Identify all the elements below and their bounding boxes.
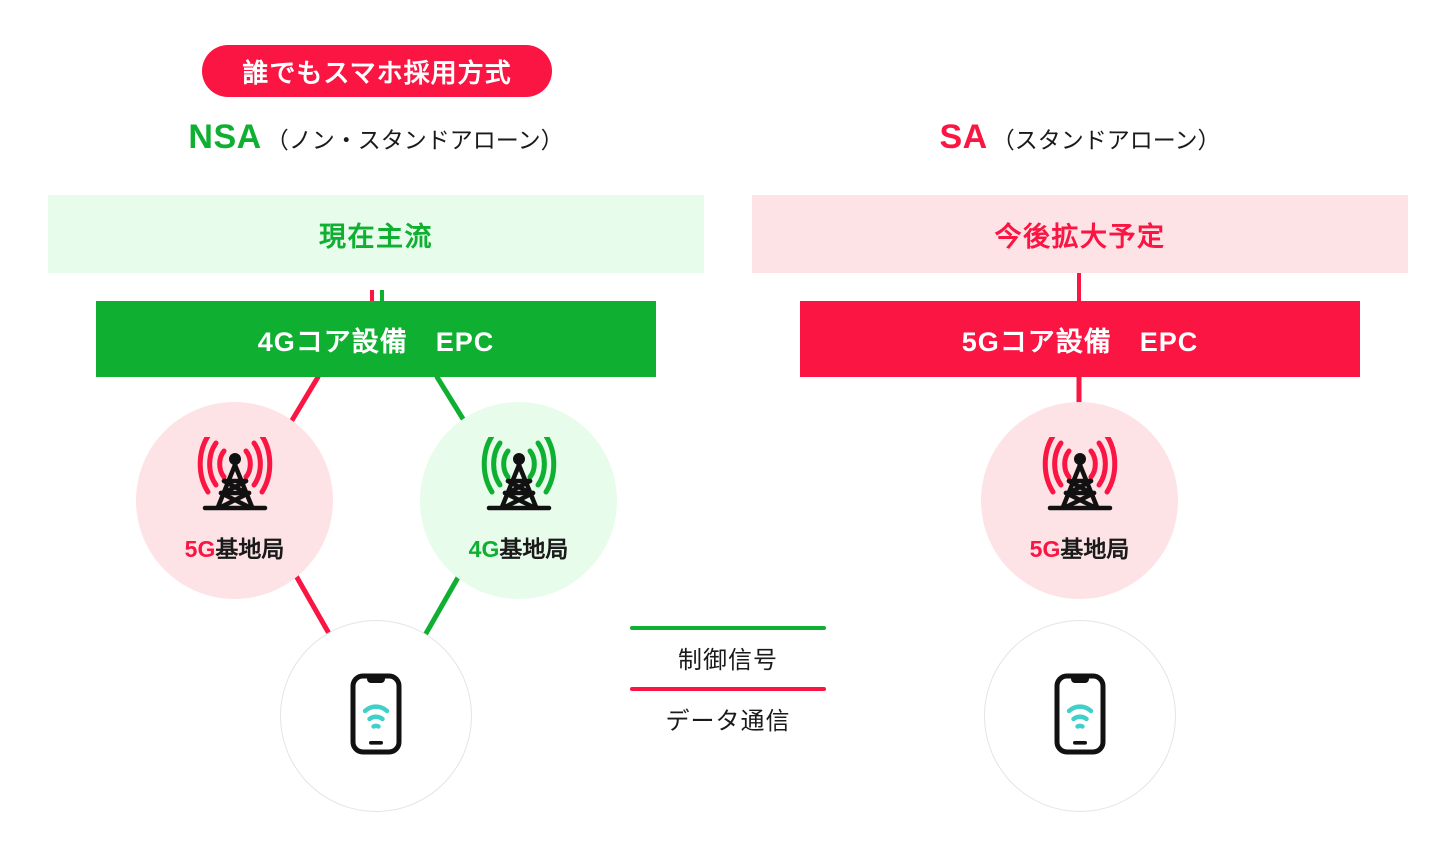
- smartphone-icon: [350, 673, 402, 760]
- cell-tower-icon: [1036, 437, 1124, 524]
- node-generation: 5G: [185, 536, 216, 562]
- legend: 制御信号 データ通信: [630, 626, 826, 748]
- node-kind: 基地局: [1060, 536, 1129, 562]
- node-nsa-4g-basestation: 4G基地局: [420, 402, 617, 599]
- legend-label-control-signal: 制御信号: [630, 630, 826, 687]
- legend-label-data-communication: データ通信: [630, 691, 826, 748]
- column-fullname-sa: （スタンドアローン）: [992, 121, 1221, 155]
- column-abbr-nsa: NSA: [188, 118, 261, 157]
- node-label: 5G基地局: [1030, 530, 1130, 564]
- column-fullname-nsa: （ノン・スタンドアローン）: [266, 121, 564, 155]
- node-label: 4G基地局: [469, 530, 569, 564]
- smartphone-icon: [1054, 673, 1106, 760]
- node-sa-5g-basestation: 5G基地局: [981, 402, 1178, 599]
- core-bar-sa: 5Gコア設備 EPC: [800, 301, 1360, 377]
- column-heading-sa: SA （スタンドアローン）: [752, 118, 1408, 162]
- node-generation: 4G: [469, 536, 500, 562]
- diagram-canvas: 誰でもスマホ採用方式 NSA （ノン・スタンドアローン） SA （スタンドアロー…: [0, 0, 1456, 862]
- node-label: 5G基地局: [185, 530, 285, 564]
- node-nsa-5g-basestation: 5G基地局: [136, 402, 333, 599]
- adoption-badge: 誰でもスマホ採用方式: [202, 45, 552, 97]
- column-abbr-sa: SA: [939, 118, 987, 157]
- node-generation: 5G: [1030, 536, 1061, 562]
- node-kind: 基地局: [215, 536, 284, 562]
- node-nsa-smartphone: [280, 620, 472, 812]
- column-heading-nsa: NSA （ノン・スタンドアローン）: [48, 118, 704, 162]
- status-band-sa: 今後拡大予定: [752, 195, 1408, 273]
- node-kind: 基地局: [499, 536, 568, 562]
- core-bar-nsa: 4Gコア設備 EPC: [96, 301, 656, 377]
- cell-tower-icon: [475, 437, 563, 524]
- status-band-nsa: 現在主流: [48, 195, 704, 273]
- node-sa-smartphone: [984, 620, 1176, 812]
- cell-tower-icon: [191, 437, 279, 524]
